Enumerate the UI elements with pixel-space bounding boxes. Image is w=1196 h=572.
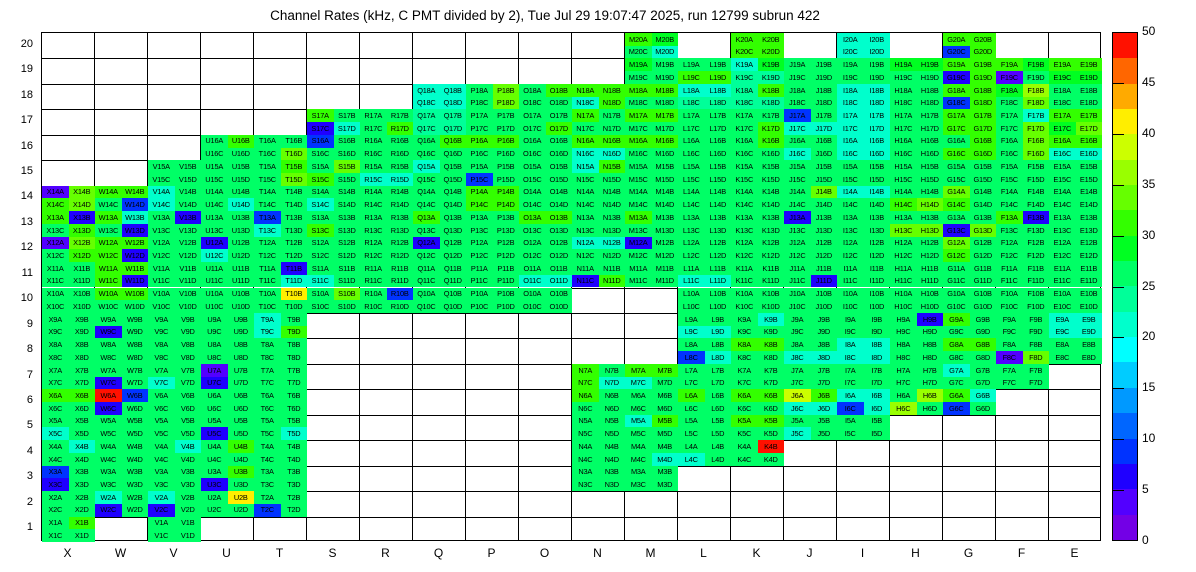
channel-N15D[interactable]: N15D — [599, 173, 626, 186]
channel-I16C[interactable]: I16C — [837, 148, 864, 161]
channel-H8B[interactable]: H8B — [917, 338, 944, 351]
channel-K20B[interactable]: K20B — [758, 33, 785, 46]
channel-N7B[interactable]: N7B — [599, 364, 626, 377]
channel-I11D[interactable]: I11D — [864, 275, 891, 288]
channel-M7D[interactable]: M7D — [652, 377, 679, 390]
channel-E14C[interactable]: E14C — [1049, 198, 1076, 211]
channel-H9C[interactable]: H9C — [890, 326, 917, 339]
heatmap-cell-J8[interactable]: J8AJ8BJ8CJ8D — [784, 338, 837, 363]
channel-M6A[interactable]: M6A — [625, 389, 652, 402]
channel-K7B[interactable]: K7B — [758, 364, 785, 377]
channel-G7A[interactable]: G7A — [943, 364, 970, 377]
channel-L10C[interactable]: L10C — [678, 300, 705, 313]
heatmap-cell-F10[interactable]: F10AF10BF10CF10D — [996, 288, 1049, 313]
channel-H13B[interactable]: H13B — [917, 211, 944, 224]
channel-J11C[interactable]: J11C — [784, 275, 811, 288]
channel-I8C[interactable]: I8C — [837, 351, 864, 364]
channel-N15C[interactable]: N15C — [572, 173, 599, 186]
heatmap-cell-W2[interactable]: W2AW2BW2CW2D — [95, 491, 148, 516]
channel-Q17A[interactable]: Q17A — [413, 109, 440, 122]
channel-Q14D[interactable]: Q14D — [440, 198, 467, 211]
heatmap-cell-H18[interactable]: H18AH18BH18CH18D — [890, 84, 943, 109]
channel-V6B[interactable]: V6B — [175, 389, 202, 402]
channel-R10D[interactable]: R10D — [387, 300, 414, 313]
channel-J17B[interactable]: J17B — [811, 109, 838, 122]
channel-N13C[interactable]: N13C — [572, 224, 599, 237]
channel-V10B[interactable]: V10B — [175, 288, 202, 301]
channel-M19B[interactable]: M19B — [652, 58, 679, 71]
channel-W11B[interactable]: W11B — [122, 262, 149, 275]
channel-W13C[interactable]: W13C — [95, 224, 122, 237]
channel-Q11D[interactable]: Q11D — [440, 275, 467, 288]
channel-L9B[interactable]: L9B — [705, 313, 732, 326]
channel-U8C[interactable]: U8C — [201, 351, 228, 364]
channel-M17C[interactable]: M17C — [625, 122, 652, 135]
channel-W7D[interactable]: W7D — [122, 377, 149, 390]
channel-G16A[interactable]: G16A — [943, 135, 970, 148]
channel-T6D[interactable]: T6D — [281, 402, 308, 415]
channel-U4C[interactable]: U4C — [201, 453, 228, 466]
channel-K5B[interactable]: K5B — [758, 415, 785, 428]
channel-V4B[interactable]: V4B — [175, 440, 202, 453]
channel-K17D[interactable]: K17D — [758, 122, 785, 135]
heatmap-cell-V8[interactable]: V8AV8BV8CV8D — [148, 338, 201, 363]
heatmap-cell-M15[interactable]: M15AM15BM15CM15D — [625, 160, 678, 185]
channel-S13C[interactable]: S13C — [307, 224, 334, 237]
heatmap-cell-R11[interactable]: R11AR11BR11CR11D — [360, 262, 413, 287]
channel-H8A[interactable]: H8A — [890, 338, 917, 351]
heatmap-cell-H17[interactable]: H17AH17BH17CH17D — [890, 109, 943, 134]
channel-O16D[interactable]: O16D — [546, 148, 573, 161]
channel-J10B[interactable]: J10B — [811, 288, 838, 301]
heatmap-cell-P18[interactable]: P18AP18BP18CP18D — [466, 84, 519, 109]
channel-G9C[interactable]: G9C — [943, 326, 970, 339]
channel-X9A[interactable]: X9A — [42, 313, 69, 326]
channel-X14A[interactable]: X14A — [42, 186, 69, 199]
channel-M6B[interactable]: M6B — [652, 389, 679, 402]
channel-U10B[interactable]: U10B — [228, 288, 255, 301]
channel-N7A[interactable]: N7A — [572, 364, 599, 377]
heatmap-cell-V10[interactable]: V10AV10BV10CV10D — [148, 288, 201, 313]
channel-L18D[interactable]: L18D — [705, 97, 732, 110]
channel-H11A[interactable]: H11A — [890, 262, 917, 275]
heatmap-cell-W4[interactable]: W4AW4BW4CW4D — [95, 440, 148, 465]
channel-N6C[interactable]: N6C — [572, 402, 599, 415]
channel-V1D[interactable]: V1D — [175, 529, 202, 542]
channel-Q10A[interactable]: Q10A — [413, 288, 440, 301]
heatmap-cell-J16[interactable]: J16AJ16BJ16CJ16D — [784, 135, 837, 160]
channel-H10B[interactable]: H10B — [917, 288, 944, 301]
channel-J19D[interactable]: J19D — [811, 71, 838, 84]
channel-G10B[interactable]: G10B — [970, 288, 997, 301]
channel-U8B[interactable]: U8B — [228, 338, 255, 351]
channel-I10B[interactable]: I10B — [864, 288, 891, 301]
channel-F19B[interactable]: F19B — [1023, 58, 1050, 71]
channel-S15D[interactable]: S15D — [334, 173, 361, 186]
channel-V7A[interactable]: V7A — [148, 364, 175, 377]
channel-W12D[interactable]: W12D — [122, 249, 149, 262]
heatmap-cell-V13[interactable]: V13AV13BV13CV13D — [148, 211, 201, 236]
channel-X6A[interactable]: X6A — [42, 389, 69, 402]
channel-L6B[interactable]: L6B — [705, 389, 732, 402]
heatmap-cell-P11[interactable]: P11AP11BP11CP11D — [466, 262, 519, 287]
channel-K17A[interactable]: K17A — [731, 109, 758, 122]
channel-F11C[interactable]: F11C — [996, 275, 1023, 288]
channel-H9D[interactable]: H9D — [917, 326, 944, 339]
heatmap-cell-O11[interactable]: O11AO11BO11CO11D — [519, 262, 572, 287]
channel-X10B[interactable]: X10B — [69, 288, 96, 301]
channel-U12B[interactable]: U12B — [228, 237, 255, 250]
channel-J16A[interactable]: J16A — [784, 135, 811, 148]
channel-G18D[interactable]: G18D — [970, 97, 997, 110]
heatmap-cell-E14[interactable]: E14AE14BE14CE14D — [1049, 186, 1102, 211]
heatmap-cell-I6[interactable]: I6AI6BI6CI6D — [837, 389, 890, 414]
channel-E19C[interactable]: E19C — [1049, 71, 1076, 84]
channel-Q16B[interactable]: Q16B — [440, 135, 467, 148]
heatmap-cell-L11[interactable]: L11AL11BL11CL11D — [678, 262, 731, 287]
channel-G12B[interactable]: G12B — [970, 237, 997, 250]
channel-M7B[interactable]: M7B — [652, 364, 679, 377]
channel-J10C[interactable]: J10C — [784, 300, 811, 313]
channel-W8B[interactable]: W8B — [122, 338, 149, 351]
channel-X13B[interactable]: X13B — [69, 211, 96, 224]
channel-N14A[interactable]: N14A — [572, 186, 599, 199]
channel-X7C[interactable]: X7C — [42, 377, 69, 390]
channel-K7C[interactable]: K7C — [731, 377, 758, 390]
channel-K20C[interactable]: K20C — [731, 46, 758, 59]
channel-U2A[interactable]: U2A — [201, 491, 228, 504]
channel-O14D[interactable]: O14D — [546, 198, 573, 211]
channel-T14B[interactable]: T14B — [281, 186, 308, 199]
channel-H14A[interactable]: H14A — [890, 186, 917, 199]
channel-M6D[interactable]: M6D — [652, 402, 679, 415]
channel-I9B[interactable]: I9B — [864, 313, 891, 326]
heatmap-cell-J14[interactable]: J14AJ14BJ14CJ14D — [784, 186, 837, 211]
channel-G15C[interactable]: G15C — [943, 173, 970, 186]
heatmap-cell-K5[interactable]: K5AK5BK5CK5D — [731, 415, 784, 440]
channel-N14C[interactable]: N14C — [572, 198, 599, 211]
channel-K20A[interactable]: K20A — [731, 33, 758, 46]
channel-R17A[interactable]: R17A — [360, 109, 387, 122]
heatmap-cell-V15[interactable]: V15AV15BV15CV15D — [148, 160, 201, 185]
channel-X8C[interactable]: X8C — [42, 351, 69, 364]
channel-V11A[interactable]: V11A — [148, 262, 175, 275]
channel-N18B[interactable]: N18B — [599, 84, 626, 97]
channel-Q15A[interactable]: Q15A — [413, 160, 440, 173]
channel-N15B[interactable]: N15B — [599, 160, 626, 173]
channel-N3C[interactable]: N3C — [572, 478, 599, 491]
channel-O16B[interactable]: O16B — [546, 135, 573, 148]
channel-U6D[interactable]: U6D — [228, 402, 255, 415]
channel-M20A[interactable]: M20A — [625, 33, 652, 46]
channel-I16B[interactable]: I16B — [864, 135, 891, 148]
channel-L16D[interactable]: L16D — [705, 148, 732, 161]
channel-T12C[interactable]: T12C — [254, 249, 281, 262]
channel-G7D[interactable]: G7D — [970, 377, 997, 390]
channel-P11A[interactable]: P11A — [466, 262, 493, 275]
heatmap-cell-G7[interactable]: G7AG7BG7CG7D — [943, 364, 996, 389]
channel-T9D[interactable]: T9D — [281, 326, 308, 339]
channel-J14D[interactable]: J14D — [811, 198, 838, 211]
channel-N3B[interactable]: N3B — [599, 466, 626, 479]
channel-E17C[interactable]: E17C — [1049, 122, 1076, 135]
channel-J15C[interactable]: J15C — [784, 173, 811, 186]
channel-K18A[interactable]: K18A — [731, 84, 758, 97]
heatmap-cell-H15[interactable]: H15AH15BH15CH15D — [890, 160, 943, 185]
channel-I20D[interactable]: I20D — [864, 46, 891, 59]
channel-U6B[interactable]: U6B — [228, 389, 255, 402]
channel-L10A[interactable]: L10A — [678, 288, 705, 301]
channel-Q16D[interactable]: Q16D — [440, 148, 467, 161]
channel-J19C[interactable]: J19C — [784, 71, 811, 84]
channel-R14A[interactable]: R14A — [360, 186, 387, 199]
heatmap-cell-U2[interactable]: U2AU2BU2CU2D — [201, 491, 254, 516]
channel-O13B[interactable]: O13B — [546, 211, 573, 224]
channel-U10C[interactable]: U10C — [201, 300, 228, 313]
channel-I9D[interactable]: I9D — [864, 326, 891, 339]
channel-G20D[interactable]: G20D — [970, 46, 997, 59]
heatmap-cell-L13[interactable]: L13AL13BL13CL13D — [678, 211, 731, 236]
channel-P12B[interactable]: P12B — [493, 237, 520, 250]
channel-O12D[interactable]: O12D — [546, 249, 573, 262]
channel-R15D[interactable]: R15D — [387, 173, 414, 186]
heatmap-cell-Q15[interactable]: Q15AQ15BQ15CQ15D — [413, 160, 466, 185]
channel-I15A[interactable]: I15A — [837, 160, 864, 173]
channel-X1A[interactable]: X1A — [42, 517, 69, 530]
channel-X11C[interactable]: X11C — [42, 275, 69, 288]
channel-T16D[interactable]: T16D — [281, 148, 308, 161]
channel-J18B[interactable]: J18B — [811, 84, 838, 97]
channel-L15A[interactable]: L15A — [678, 160, 705, 173]
heatmap-cell-O13[interactable]: O13AO13BO13CO13D — [519, 211, 572, 236]
heatmap-cell-V1[interactable]: V1AV1BV1CV1D — [148, 517, 201, 542]
heatmap-cell-O12[interactable]: O12AO12BO12CO12D — [519, 237, 572, 262]
channel-K8B[interactable]: K8B — [758, 338, 785, 351]
heatmap-cell-X13[interactable]: X13AX13BX13CX13D — [42, 211, 95, 236]
channel-S14A[interactable]: S14A — [307, 186, 334, 199]
channel-R10A[interactable]: R10A — [360, 288, 387, 301]
channel-W13B[interactable]: W13B — [122, 211, 149, 224]
channel-P18C[interactable]: P18C — [466, 97, 493, 110]
channel-U11C[interactable]: U11C — [201, 275, 228, 288]
channel-L5D[interactable]: L5D — [705, 427, 732, 440]
channel-T15D[interactable]: T15D — [281, 173, 308, 186]
channel-M3A[interactable]: M3A — [625, 466, 652, 479]
channel-K13C[interactable]: K13C — [731, 224, 758, 237]
channel-F17B[interactable]: F17B — [1023, 109, 1050, 122]
channel-O15B[interactable]: O15B — [546, 160, 573, 173]
channel-G7C[interactable]: G7C — [943, 377, 970, 390]
channel-K5D[interactable]: K5D — [758, 427, 785, 440]
heatmap-cell-N5[interactable]: N5AN5BN5CN5D — [572, 415, 625, 440]
heatmap-cell-Q10[interactable]: Q10AQ10BQ10CQ10D — [413, 288, 466, 313]
channel-L10D[interactable]: L10D — [705, 300, 732, 313]
channel-T9A[interactable]: T9A — [254, 313, 281, 326]
channel-F12C[interactable]: F12C — [996, 249, 1023, 262]
channel-V4D[interactable]: V4D — [175, 453, 202, 466]
channel-H8D[interactable]: H8D — [917, 351, 944, 364]
channel-G11D[interactable]: G11D — [970, 275, 997, 288]
channel-J6B[interactable]: J6B — [811, 389, 838, 402]
channel-T2D[interactable]: T2D — [281, 504, 308, 517]
heatmap-cell-U16[interactable]: U16AU16BU16CU16D — [201, 135, 254, 160]
channel-F10D[interactable]: F10D — [1023, 300, 1050, 313]
heatmap-cell-Q12[interactable]: Q12AQ12BQ12CQ12D — [413, 237, 466, 262]
channel-K17B[interactable]: K17B — [758, 109, 785, 122]
heatmap-cell-W6[interactable]: W6AW6BW6CW6D — [95, 389, 148, 414]
channel-K15B[interactable]: K15B — [758, 160, 785, 173]
channel-F13D[interactable]: F13D — [1023, 224, 1050, 237]
heatmap-cell-E13[interactable]: E13AE13BE13CE13D — [1049, 211, 1102, 236]
channel-W14A[interactable]: W14A — [95, 186, 122, 199]
heatmap-cell-F19[interactable]: F19AF19BF19CF19D — [996, 58, 1049, 83]
channel-V2B[interactable]: V2B — [175, 491, 202, 504]
channel-P14D[interactable]: P14D — [493, 198, 520, 211]
channel-W3C[interactable]: W3C — [95, 478, 122, 491]
channel-L17B[interactable]: L17B — [705, 109, 732, 122]
channel-H6B[interactable]: H6B — [917, 389, 944, 402]
channel-E13C[interactable]: E13C — [1049, 224, 1076, 237]
channel-L15B[interactable]: L15B — [705, 160, 732, 173]
heatmap-cell-K9[interactable]: K9AK9BK9CK9D — [731, 313, 784, 338]
heatmap-cell-W5[interactable]: W5AW5BW5CW5D — [95, 415, 148, 440]
channel-X5A[interactable]: X5A — [42, 415, 69, 428]
channel-G14D[interactable]: G14D — [970, 198, 997, 211]
channel-E19B[interactable]: E19B — [1076, 58, 1103, 71]
heatmap-cell-X7[interactable]: X7AX7BX7CX7D — [42, 364, 95, 389]
channel-G8C[interactable]: G8C — [943, 351, 970, 364]
channel-U10D[interactable]: U10D — [228, 300, 255, 313]
channel-R10B[interactable]: R10B — [387, 288, 414, 301]
channel-E18C[interactable]: E18C — [1049, 97, 1076, 110]
heatmap-cell-S17[interactable]: S17AS17BS17CS17D — [307, 109, 360, 134]
channel-Q10B[interactable]: Q10B — [440, 288, 467, 301]
channel-T10D[interactable]: T10D — [281, 300, 308, 313]
channel-T13C[interactable]: T13C — [254, 224, 281, 237]
channel-I6C[interactable]: I6C — [837, 402, 864, 415]
heatmap-cell-F8[interactable]: F8AF8BF8CF8D — [996, 338, 1049, 363]
channel-M7A[interactable]: M7A — [625, 364, 652, 377]
channel-O13C[interactable]: O13C — [519, 224, 546, 237]
channel-V13D[interactable]: V13D — [175, 224, 202, 237]
channel-I17C[interactable]: I17C — [837, 122, 864, 135]
channel-H7D[interactable]: H7D — [917, 377, 944, 390]
channel-S14B[interactable]: S14B — [334, 186, 361, 199]
channel-H14B[interactable]: H14B — [917, 186, 944, 199]
heatmap-cell-Q16[interactable]: Q16AQ16BQ16CQ16D — [413, 135, 466, 160]
heatmap-cell-P10[interactable]: P10AP10BP10CP10D — [466, 288, 519, 313]
channel-T16C[interactable]: T16C — [254, 148, 281, 161]
channel-W3B[interactable]: W3B — [122, 466, 149, 479]
heatmap-cell-L8[interactable]: L8AL8BL8CL8D — [678, 338, 731, 363]
heatmap-cell-N13[interactable]: N13AN13BN13CN13D — [572, 211, 625, 236]
channel-L8C[interactable]: L8C — [678, 351, 705, 364]
channel-X7D[interactable]: X7D — [69, 377, 96, 390]
channel-X9C[interactable]: X9C — [42, 326, 69, 339]
heatmap-cell-X9[interactable]: X9AX9BX9CX9D — [42, 313, 95, 338]
channel-U12D[interactable]: U12D — [228, 249, 255, 262]
heatmap-cell-I16[interactable]: I16AI16BI16CI16D — [837, 135, 890, 160]
channel-U2C[interactable]: U2C — [201, 504, 228, 517]
heatmap-cell-U5[interactable]: U5AU5BU5CU5D — [201, 415, 254, 440]
channel-V7C[interactable]: V7C — [148, 377, 175, 390]
channel-F17D[interactable]: F17D — [1023, 122, 1050, 135]
channel-N4B[interactable]: N4B — [599, 440, 626, 453]
channel-E18A[interactable]: E18A — [1049, 84, 1076, 97]
channel-W6C[interactable]: W6C — [95, 402, 122, 415]
channel-E12C[interactable]: E12C — [1049, 249, 1076, 262]
channel-H15C[interactable]: H15C — [890, 173, 917, 186]
channel-M20D[interactable]: M20D — [652, 46, 679, 59]
heatmap-cell-K19[interactable]: K19AK19BK19CK19D — [731, 58, 784, 83]
channel-L13B[interactable]: L13B — [705, 211, 732, 224]
channel-U8A[interactable]: U8A — [201, 338, 228, 351]
channel-M12A[interactable]: M12A — [625, 237, 652, 250]
channel-G6A[interactable]: G6A — [943, 389, 970, 402]
channel-I7C[interactable]: I7C — [837, 377, 864, 390]
channel-S10D[interactable]: S10D — [334, 300, 361, 313]
channel-K8D[interactable]: K8D — [758, 351, 785, 364]
channel-H18A[interactable]: H18A — [890, 84, 917, 97]
channel-O17D[interactable]: O17D — [546, 122, 573, 135]
channel-I8B[interactable]: I8B — [864, 338, 891, 351]
channel-M15A[interactable]: M15A — [625, 160, 652, 173]
heatmap-cell-U9[interactable]: U9AU9BU9CU9D — [201, 313, 254, 338]
channel-V2A[interactable]: V2A — [148, 491, 175, 504]
heatmap-cell-J10[interactable]: J10AJ10BJ10CJ10D — [784, 288, 837, 313]
channel-I14C[interactable]: I14C — [837, 198, 864, 211]
channel-P14A[interactable]: P14A — [466, 186, 493, 199]
channel-V12B[interactable]: V12B — [175, 237, 202, 250]
channel-L18A[interactable]: L18A — [678, 84, 705, 97]
channel-T12A[interactable]: T12A — [254, 237, 281, 250]
heatmap-cell-Q14[interactable]: Q14AQ14BQ14CQ14D — [413, 186, 466, 211]
channel-P10C[interactable]: P10C — [466, 300, 493, 313]
channel-E15D[interactable]: E15D — [1076, 173, 1103, 186]
heatmap-cell-J5[interactable]: J5AJ5BJ5CJ5D — [784, 415, 837, 440]
heatmap-cell-J15[interactable]: J15AJ15BJ15CJ15D — [784, 160, 837, 185]
channel-R12D[interactable]: R12D — [387, 249, 414, 262]
channel-J5D[interactable]: J5D — [811, 427, 838, 440]
channel-I14D[interactable]: I14D — [864, 198, 891, 211]
channel-X9D[interactable]: X9D — [69, 326, 96, 339]
channel-J12A[interactable]: J12A — [784, 237, 811, 250]
heatmap-cell-M20[interactable]: M20AM20BM20CM20D — [625, 33, 678, 58]
heatmap-cell-O10[interactable]: O10AO10BO10CO10D — [519, 288, 572, 313]
heatmap-cell-V11[interactable]: V11AV11BV11CV11D — [148, 262, 201, 287]
heatmap-cell-F11[interactable]: F11AF11BF11CF11D — [996, 262, 1049, 287]
channel-N6D[interactable]: N6D — [599, 402, 626, 415]
channel-G17C[interactable]: G17C — [943, 122, 970, 135]
channel-R12B[interactable]: R12B — [387, 237, 414, 250]
channel-O17A[interactable]: O17A — [519, 109, 546, 122]
channel-O12A[interactable]: O12A — [519, 237, 546, 250]
channel-L5C[interactable]: L5C — [678, 427, 705, 440]
channel-J17D[interactable]: J17D — [811, 122, 838, 135]
channel-F12A[interactable]: F12A — [996, 237, 1023, 250]
heatmap-cell-H9[interactable]: H9AH9BH9CH9D — [890, 313, 943, 338]
channel-V5D[interactable]: V5D — [175, 427, 202, 440]
channel-L19D[interactable]: L19D — [705, 71, 732, 84]
channel-I8D[interactable]: I8D — [864, 351, 891, 364]
channel-L7C[interactable]: L7C — [678, 377, 705, 390]
heatmap-cell-M12[interactable]: M12AM12BM12CM12D — [625, 237, 678, 262]
channel-J12D[interactable]: J12D — [811, 249, 838, 262]
channel-U5C[interactable]: U5C — [201, 427, 228, 440]
channel-O11B[interactable]: O11B — [546, 262, 573, 275]
heatmap-cell-R13[interactable]: R13AR13BR13CR13D — [360, 211, 413, 236]
channel-T12B[interactable]: T12B — [281, 237, 308, 250]
